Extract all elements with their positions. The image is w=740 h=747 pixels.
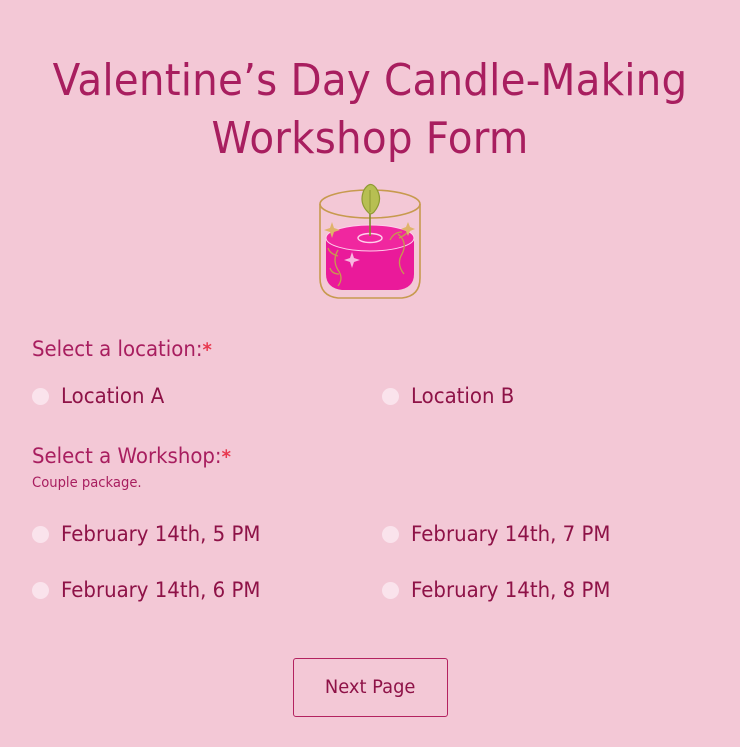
workshop-label-text: Select a Workshop: [32,444,222,468]
location-options: Location A Location B [32,379,732,413]
option-label: February 14th, 6 PM [61,577,260,603]
radio-option-location-a[interactable]: Location A [32,379,382,413]
location-label-text: Select a location: [32,337,203,361]
radio-option-feb14-5pm[interactable]: February 14th, 5 PM [32,506,382,562]
field-location: Select a location:* Location A Location … [32,336,708,413]
workshop-required-star: * [222,446,231,468]
option-label: Location A [61,383,164,409]
field-workshop: Select a Workshop:* Couple package. Febr… [32,443,708,618]
candle-illustration [298,178,442,310]
workshop-sublabel: Couple package. [32,474,667,492]
next-page-button-label: Next Page [325,659,416,716]
workshop-label: Select a Workshop:* [32,443,667,470]
location-required-star: * [203,339,212,361]
page-title-line-2: Workshop Form [30,110,711,168]
radio-icon[interactable] [32,582,49,599]
radio-icon[interactable] [32,526,49,543]
radio-icon[interactable] [382,582,399,599]
radio-option-feb14-7pm[interactable]: February 14th, 7 PM [382,506,732,562]
form-page: Valentine’s Day Candle-Making Workshop F… [0,0,740,747]
radio-option-feb14-8pm[interactable]: February 14th, 8 PM [382,562,732,618]
page-title-line-1: Valentine’s Day Candle-Making [30,52,711,110]
location-label: Select a location:* [32,336,667,363]
radio-icon[interactable] [32,388,49,405]
radio-icon[interactable] [382,388,399,405]
radio-option-location-b[interactable]: Location B [382,379,732,413]
option-label: February 14th, 8 PM [411,577,610,603]
option-label: February 14th, 7 PM [411,521,610,547]
radio-option-feb14-6pm[interactable]: February 14th, 6 PM [32,562,382,618]
option-label: Location B [411,383,514,409]
form-fields: Select a location:* Location A Location … [32,336,708,618]
option-label: February 14th, 5 PM [61,521,260,547]
workshop-options: February 14th, 5 PM February 14th, 7 PM … [32,506,732,618]
radio-icon[interactable] [382,526,399,543]
next-page-button[interactable]: Next Page [293,658,448,717]
page-title: Valentine’s Day Candle-Making Workshop F… [30,52,711,168]
